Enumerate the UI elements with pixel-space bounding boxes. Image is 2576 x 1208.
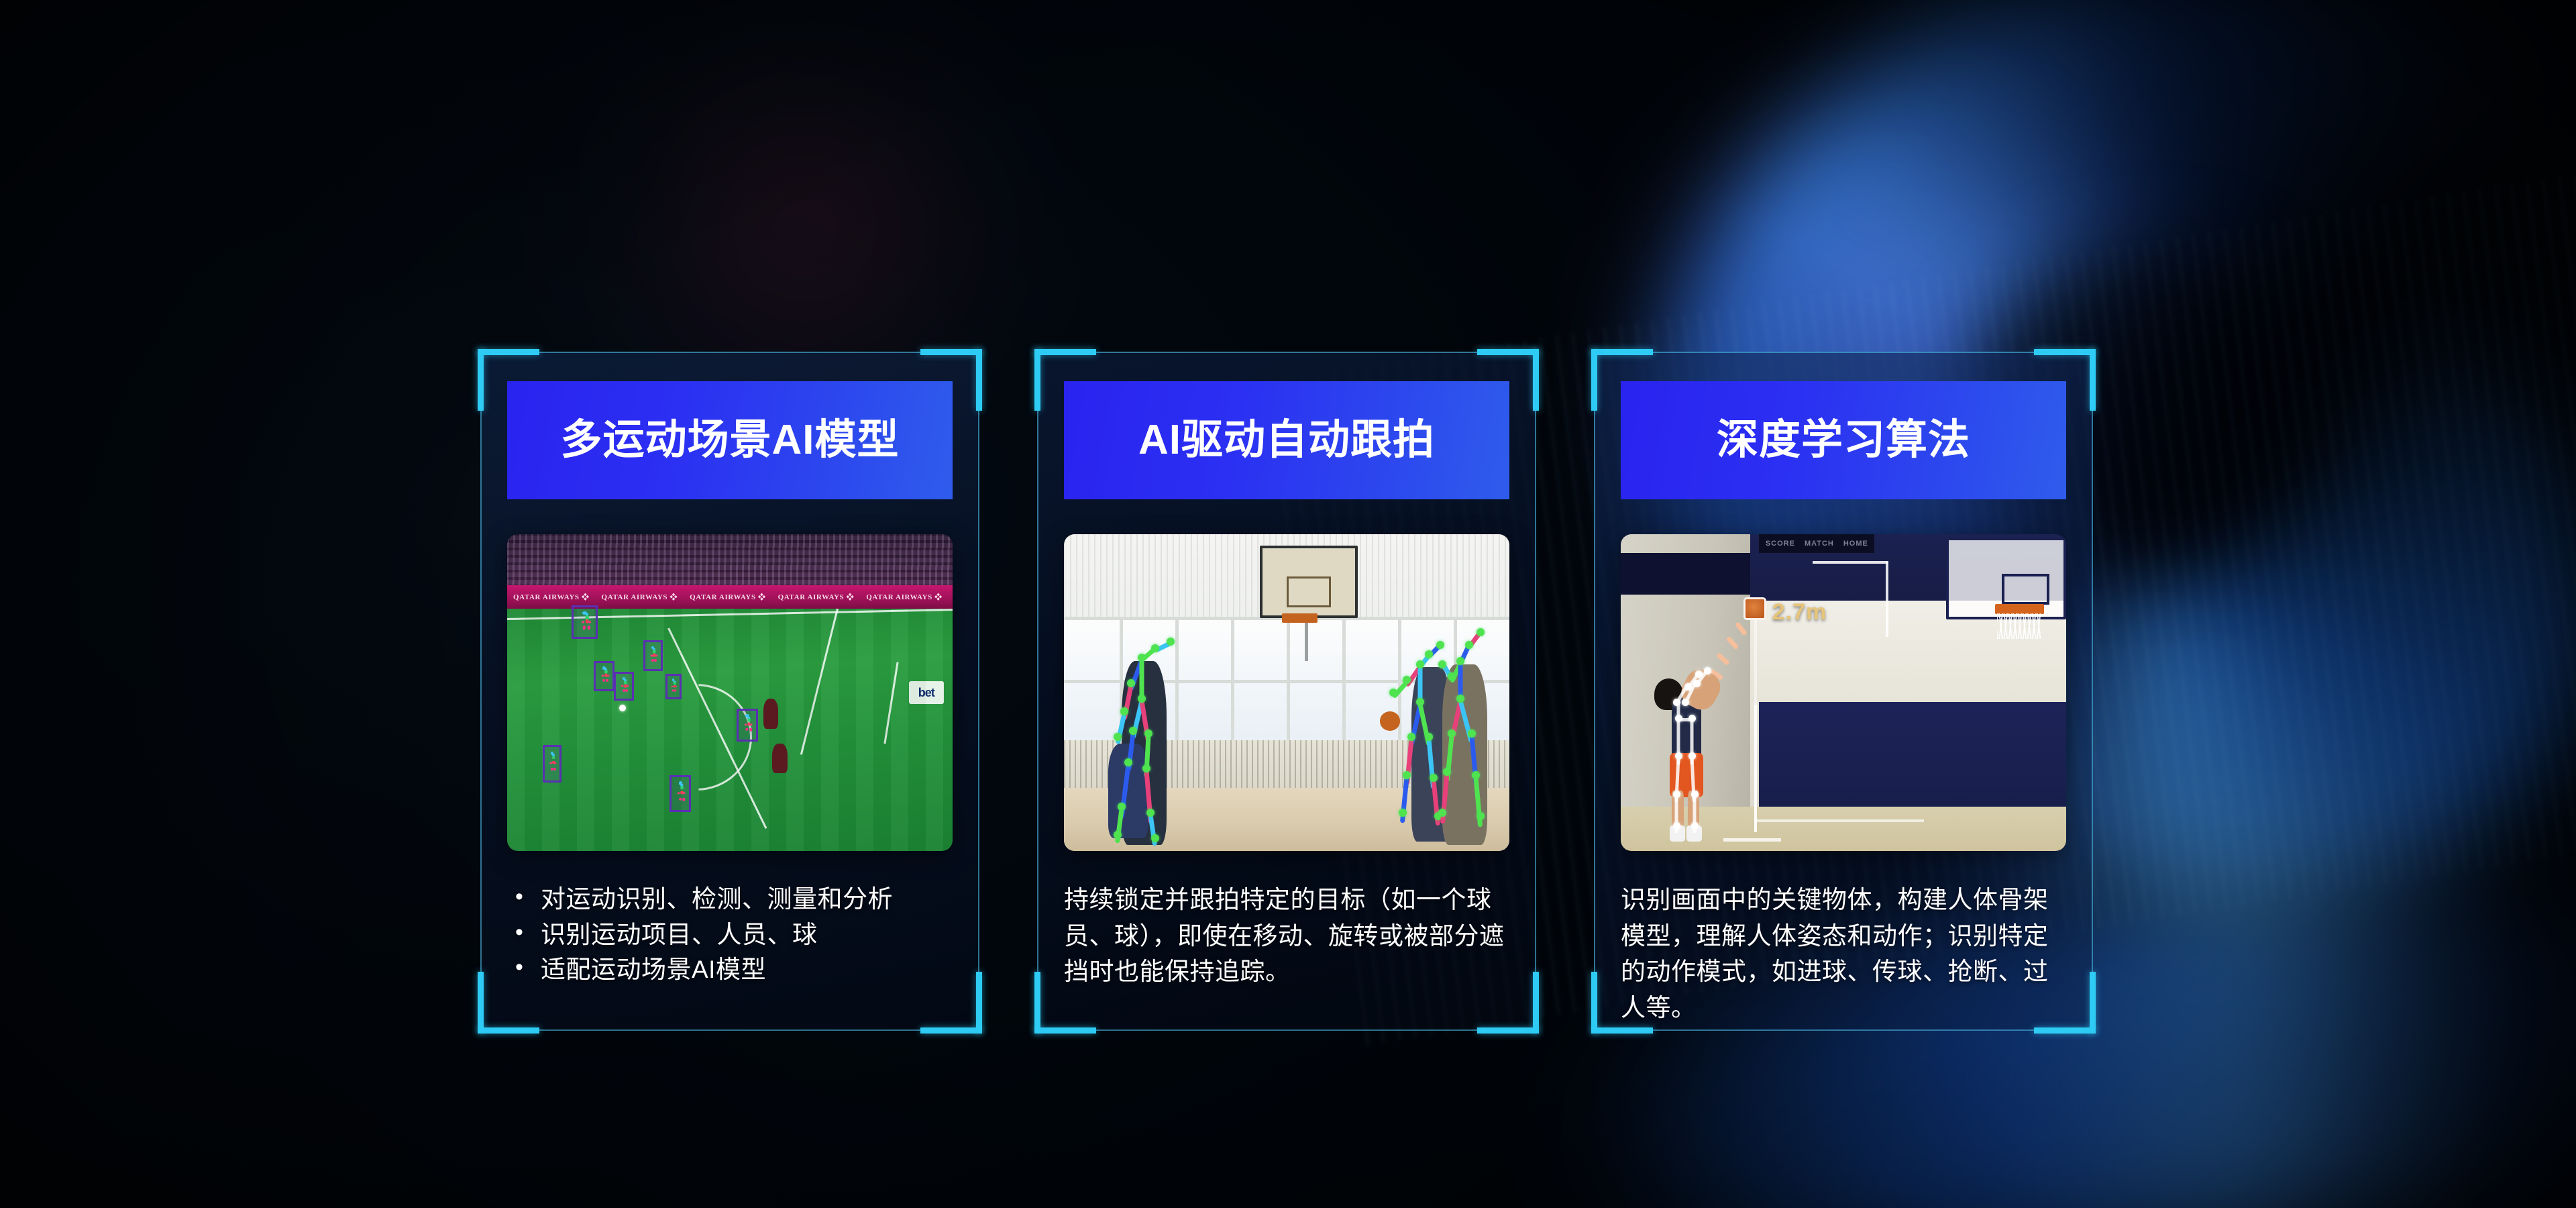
pitch: bet bbox=[507, 609, 953, 851]
detection-box bbox=[543, 745, 561, 783]
pose-bone bbox=[749, 728, 752, 732]
card-title: 深度学习算法 bbox=[1717, 419, 1970, 461]
scoreboard-label: MATCH bbox=[1805, 540, 1834, 548]
sponsor-logo: bet bbox=[909, 681, 944, 704]
pose-joint bbox=[1695, 670, 1703, 678]
pose-joint bbox=[1142, 764, 1150, 772]
basketball bbox=[1380, 711, 1400, 730]
pose-bone bbox=[625, 689, 629, 693]
pose-joint bbox=[1151, 644, 1159, 652]
detection-box bbox=[665, 674, 682, 700]
pose-bone bbox=[679, 797, 682, 801]
pose-joint bbox=[1456, 657, 1464, 665]
pose-skeleton bbox=[648, 646, 658, 666]
pose-joint bbox=[1675, 715, 1682, 722]
pose-skeleton bbox=[547, 751, 557, 776]
measurement-guide-line bbox=[1886, 561, 1888, 637]
pose-joint bbox=[1691, 822, 1699, 829]
pose-joint bbox=[1403, 771, 1411, 779]
detection-box bbox=[572, 605, 598, 639]
measurement-label: 2.7m bbox=[1772, 599, 1827, 625]
card-title: AI驱动自动跟拍 bbox=[1138, 419, 1435, 461]
pose-skeleton bbox=[669, 678, 677, 695]
window-mullion bbox=[1231, 617, 1234, 753]
advert-text: QATAR AIRWAYS ❖ bbox=[684, 591, 772, 602]
pose-bone bbox=[654, 659, 657, 662]
feature-bullet-list: 对运动识别、检测、测量和分析 识别运动项目、人员、球 适配运动场景AI模型 bbox=[507, 882, 953, 988]
pose-joint bbox=[1127, 679, 1135, 687]
wall-padding bbox=[1759, 702, 2066, 807]
pose-skeleton bbox=[599, 666, 610, 687]
advert-text: QATAR AIRWAYS ❖ bbox=[772, 591, 861, 602]
pose-bone bbox=[583, 625, 586, 630]
shot-trajectory-thumbnail[interactable]: SCOREMATCHHOME2.7m bbox=[1621, 534, 2066, 851]
pose-bone bbox=[682, 797, 686, 801]
pose-bone bbox=[745, 728, 749, 732]
pose-joint bbox=[1468, 729, 1476, 738]
pose-joint bbox=[1688, 715, 1696, 722]
detection-box bbox=[737, 709, 758, 742]
card-body: 对运动识别、检测、测量和分析 识别运动项目、人员、球 适配运动场景AI模型 bbox=[507, 882, 953, 988]
pose-bone bbox=[587, 625, 590, 629]
pose-joint bbox=[1129, 727, 1137, 735]
pose-skeleton bbox=[675, 781, 686, 807]
scoreboard-label: SCORE bbox=[1766, 540, 1795, 548]
pose-joint bbox=[1124, 758, 1132, 766]
pose-joint bbox=[1407, 733, 1415, 741]
card-header-banner: AI驱动自动跟拍 bbox=[1064, 381, 1509, 499]
scoreboard-label: HOME bbox=[1843, 540, 1868, 548]
pose-bone bbox=[581, 620, 584, 623]
card-body: 识别画面中的关键物体，构建人体骨架模型，理解人体姿态和动作；识别特定的动作模式，… bbox=[1621, 882, 2066, 1026]
scoreboard: SCOREMATCHHOME bbox=[1759, 534, 1875, 553]
hoop-rim bbox=[1995, 604, 2044, 614]
measurement-guide-line bbox=[1723, 838, 1781, 842]
wall-column-band bbox=[1621, 553, 1750, 594]
feature-card-ai-auto-tracking[interactable]: AI驱动自动跟拍 持续锁定并跟拍特定的目标（如一个球员、球），即使在移动、旋转或… bbox=[1037, 352, 1536, 1031]
feature-card-row: 多运动场景AI模型 QATAR AIRWAYS ❖QATAR AIRWAYS ❖… bbox=[480, 352, 2090, 1090]
pitch-line bbox=[800, 609, 839, 755]
card-description: 持续锁定并跟拍特定的目标（如一个球员、球），即使在移动、旋转或被部分遮挡时也能保… bbox=[1064, 882, 1509, 990]
pose-joint bbox=[1477, 812, 1485, 820]
list-item: 识别运动项目、人员、球 bbox=[507, 917, 953, 953]
pose-joint bbox=[1448, 729, 1456, 738]
pose-skeleton bbox=[619, 677, 629, 696]
soccer-detection-thumbnail[interactable]: QATAR AIRWAYS ❖QATAR AIRWAYS ❖QATAR AIRW… bbox=[507, 534, 953, 851]
pose-joint bbox=[1673, 791, 1680, 798]
card-header-banner: 深度学习算法 bbox=[1621, 381, 2066, 499]
pose-joint bbox=[1448, 672, 1456, 681]
backboard bbox=[1260, 546, 1358, 619]
pose-bone bbox=[674, 689, 677, 692]
basketball-pose-thumbnail[interactable] bbox=[1064, 534, 1509, 851]
centre-arc bbox=[641, 684, 752, 791]
pose-bone bbox=[553, 768, 557, 770]
backboard-square bbox=[1287, 576, 1331, 607]
pose-joint bbox=[1120, 707, 1128, 715]
measurement-guide-line bbox=[1754, 819, 1923, 822]
hoop-pole bbox=[1305, 617, 1308, 661]
pose-bone bbox=[606, 679, 609, 683]
advert-text: QATAR AIRWAYS ❖ bbox=[860, 591, 949, 602]
card-body: 持续锁定并跟拍特定的目标（如一个球员、球），即使在移动、旋转或被部分遮挡时也能保… bbox=[1064, 882, 1509, 990]
advert-text: QATAR AIRWAYS ❖ bbox=[507, 591, 596, 602]
advert-text: QATAR AIRWAYS ❖ bbox=[596, 591, 684, 602]
pose-skeleton bbox=[742, 714, 753, 736]
detection-box bbox=[594, 661, 614, 691]
advert-text: QATAR AIRWAYS ❖ bbox=[949, 591, 953, 602]
pose-joint bbox=[1114, 733, 1122, 741]
slide-stage: 多运动场景AI模型 QATAR AIRWAYS ❖QATAR AIRWAYS ❖… bbox=[0, 0, 2576, 1208]
backboard-square bbox=[2002, 574, 2050, 605]
detection-box bbox=[669, 775, 691, 813]
pose-joint bbox=[1691, 791, 1699, 798]
feature-card-deep-learning-algorithm[interactable]: 深度学习算法 SCOREMATCHHOME2.7m 识别画面中的关键物体，构建人… bbox=[1594, 352, 2093, 1031]
ball-detection-box bbox=[1743, 597, 1767, 620]
pose-joint bbox=[1114, 831, 1122, 839]
window-mullion bbox=[1175, 617, 1179, 753]
list-item: 适配运动场景AI模型 bbox=[507, 952, 953, 988]
window-mullion bbox=[1287, 617, 1290, 753]
pose-bone bbox=[602, 679, 605, 683]
pose-joint bbox=[1472, 771, 1480, 779]
hoop-net bbox=[1997, 613, 2041, 639]
pose-bone bbox=[673, 681, 676, 685]
feature-card-multi-sport-ai-model[interactable]: 多运动场景AI模型 QATAR AIRWAYS ❖QATAR AIRWAYS ❖… bbox=[480, 352, 979, 1031]
detection-box bbox=[614, 672, 633, 700]
player-silhouette bbox=[763, 699, 779, 729]
pose-joint bbox=[1693, 680, 1701, 687]
pose-joint bbox=[1443, 768, 1451, 776]
measurement-guide-line bbox=[1813, 561, 1888, 564]
card-header-banner: 多运动场景AI模型 bbox=[507, 381, 953, 499]
card-title: 多运动场景AI模型 bbox=[560, 419, 899, 461]
hoop-rim bbox=[1282, 613, 1318, 623]
player-silhouette bbox=[772, 744, 788, 774]
pose-joint bbox=[1684, 683, 1692, 691]
pose-joint bbox=[1438, 660, 1446, 668]
pose-skeleton bbox=[578, 611, 592, 633]
detection-box bbox=[643, 640, 663, 671]
card-description: 识别画面中的关键物体，构建人体骨架模型，理解人体姿态和动作；识别特定的动作模式，… bbox=[1621, 882, 2066, 1026]
list-item: 对运动识别、检测、测量和分析 bbox=[507, 882, 953, 917]
pose-joint bbox=[1399, 809, 1407, 817]
measurement-guide-line bbox=[1754, 705, 1757, 832]
ball bbox=[619, 705, 626, 711]
pose-joint bbox=[1416, 660, 1424, 668]
pitch-line bbox=[883, 662, 898, 744]
window-mullion bbox=[1342, 617, 1346, 753]
